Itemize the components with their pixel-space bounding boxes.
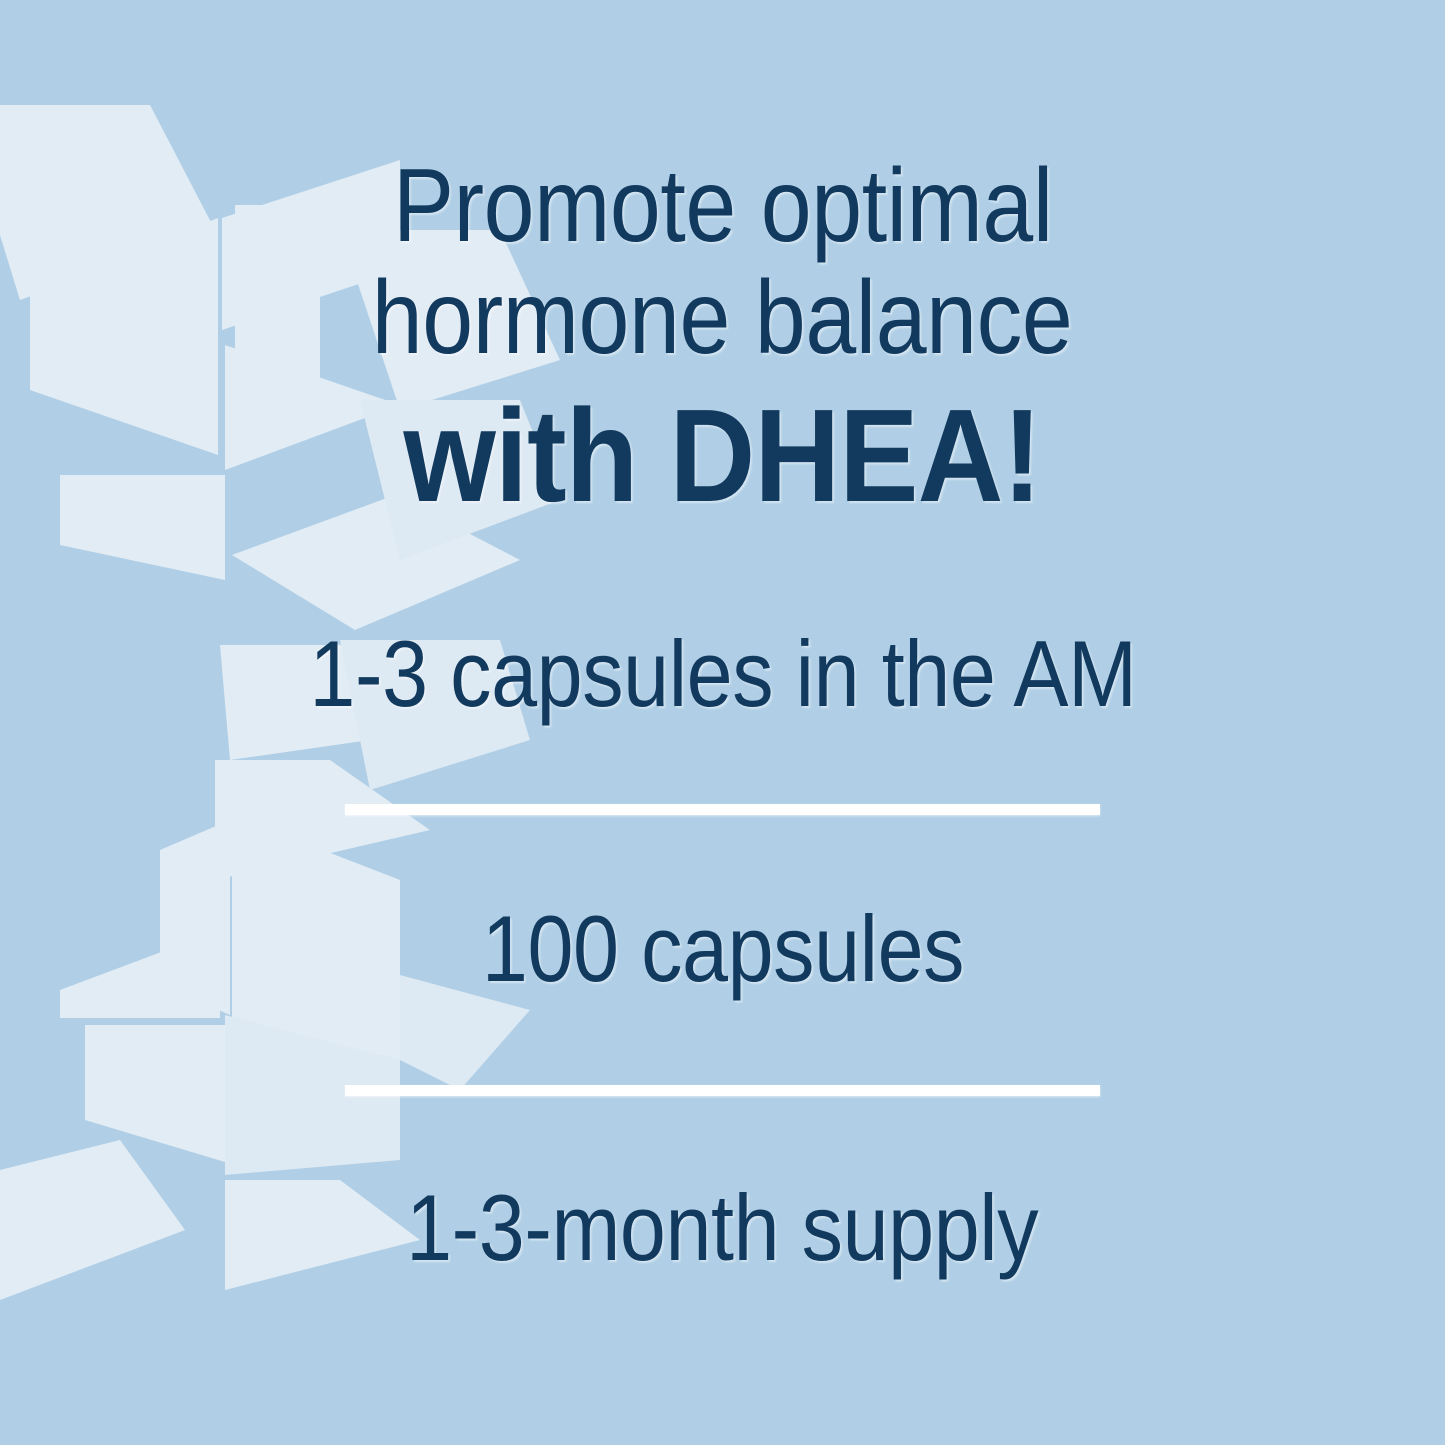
headline-line-1: Promote optimal xyxy=(393,150,1053,262)
headline-line-2: hormone balance xyxy=(372,262,1073,374)
capsule-count-text: 100 capsules xyxy=(481,895,963,1003)
poster-content: Promote optimal hormone balance with DHE… xyxy=(0,0,1445,1445)
headline-block: Promote optimal hormone balance with DHE… xyxy=(324,150,1120,528)
dosage-text: 1-3 capsules in the AM xyxy=(309,620,1136,728)
divider-top xyxy=(345,804,1100,815)
headline-emphasis: with DHEA! xyxy=(404,383,1042,528)
product-feature-poster: Promote optimal hormone balance with DHE… xyxy=(0,0,1445,1445)
divider-bottom xyxy=(345,1085,1100,1096)
supply-duration-text: 1-3-month supply xyxy=(406,1174,1038,1282)
